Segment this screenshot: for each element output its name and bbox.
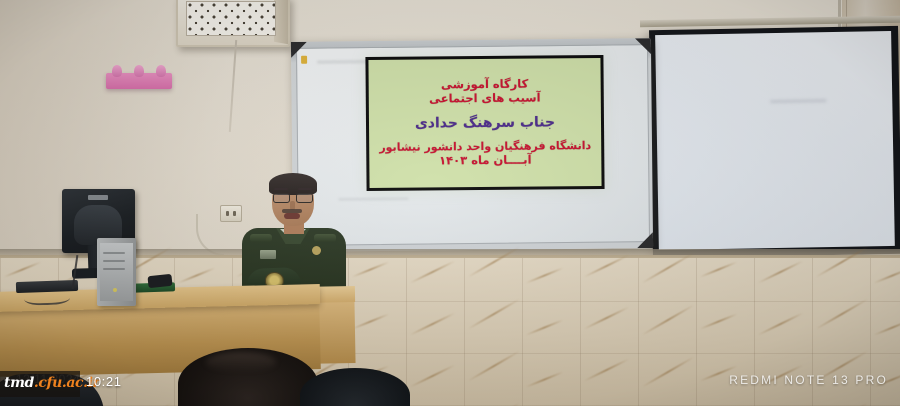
marble-vein <box>758 260 804 284</box>
speaker-eyebrow <box>298 188 312 190</box>
marble-vein <box>642 304 695 336</box>
screenshot-root: کارگاه آموزشی آسیب های اجتماعی جناب سرهن… <box>0 0 900 406</box>
marble-vein <box>526 371 564 388</box>
marble-vein <box>352 313 390 330</box>
slide-date: آبــــان ماه ۱۴۰۳ <box>377 153 593 168</box>
uniform-emblem <box>312 246 321 255</box>
projected-slide: کارگاه آموزشی آسیب های اجتماعی جناب سرهن… <box>365 55 604 191</box>
marble-vein <box>584 358 630 382</box>
marble-vein <box>352 261 390 278</box>
speaker-hair <box>269 173 317 195</box>
marble-vein <box>816 298 869 330</box>
marble-vein <box>410 364 456 388</box>
marble-vein <box>526 267 564 284</box>
coat-hook-rack <box>106 73 172 89</box>
marble-vein <box>642 356 695 388</box>
uniform-epaulet <box>250 234 272 242</box>
projection-screen <box>649 26 900 258</box>
pc-power-led <box>113 288 117 292</box>
marble-vein <box>874 267 900 284</box>
marble-vein <box>700 261 738 278</box>
coat-hook <box>156 65 166 77</box>
device-watermark: REDMI NOTE 13 PRO <box>729 373 888 387</box>
marble-vein <box>816 402 869 406</box>
eyeglasses-icon <box>273 193 313 201</box>
pc-tower <box>97 238 136 306</box>
uniform-epaulet <box>314 234 336 242</box>
watermark-prefix: tmd <box>4 375 34 391</box>
marble-vein <box>584 306 630 330</box>
marble-vein <box>468 350 521 382</box>
marble-vein <box>468 298 521 330</box>
air-conditioner-icon <box>176 0 290 47</box>
timestamp-label: 10:21 <box>86 374 122 389</box>
screen-smudge <box>770 99 826 103</box>
dark-desk-object <box>147 274 172 288</box>
pc-drive-slot <box>103 260 125 262</box>
projection-screen-surface <box>655 31 895 250</box>
eyeglass-lens <box>296 193 313 203</box>
monitor-logo <box>88 195 108 200</box>
air-conditioner-grille <box>186 1 276 36</box>
audience-hair-highlight <box>206 352 276 372</box>
marble-vein <box>410 260 456 284</box>
marble-vein <box>526 319 564 336</box>
slide-title-line2: آسیب های اجتماعی <box>377 91 593 106</box>
marble-vein <box>120 402 173 406</box>
coat-hook <box>112 65 122 77</box>
marble-vein <box>4 261 42 278</box>
marble-vein <box>468 402 521 406</box>
eyeglass-lens <box>273 193 290 203</box>
uniform-name-badge <box>260 250 276 259</box>
speaker-mouth <box>284 213 300 219</box>
coat-hook <box>134 65 144 77</box>
marble-vein <box>758 312 804 336</box>
marble-vein <box>178 267 216 284</box>
speaker-eyebrow <box>274 188 288 190</box>
whiteboard-magnet <box>301 56 307 64</box>
pc-drive-slot <box>103 252 125 254</box>
pc-drive-slot <box>103 268 125 270</box>
air-conditioner-side <box>274 0 288 44</box>
slide-content: کارگاه آموزشی آسیب های اجتماعی جناب سرهن… <box>368 58 601 188</box>
marble-vein <box>874 319 900 336</box>
marble-vein <box>700 313 738 330</box>
slide-speaker-name: جناب سرهنگ حدادی <box>377 114 593 132</box>
socket-hole <box>226 211 229 216</box>
marble-vein <box>410 312 456 336</box>
marble-vein <box>584 254 630 278</box>
